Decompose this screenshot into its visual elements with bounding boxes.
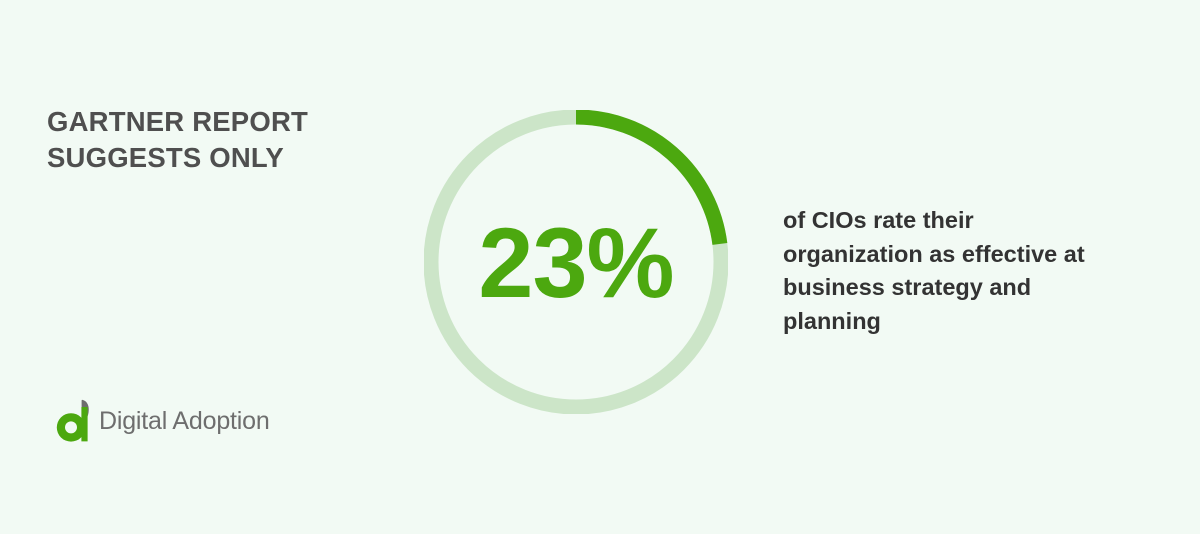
logo-a-mark-icon — [56, 398, 96, 444]
donut-center-value: 23% — [424, 110, 728, 414]
infographic-canvas: Gartner report suggests only 23% of CIOs… — [0, 0, 1200, 534]
brand-logo: Digital Adoption — [56, 398, 270, 444]
logo-a-bowl-counter — [65, 421, 77, 433]
page-title: Gartner report suggests only — [47, 104, 377, 176]
statistic-description: of CIOs rate their organization as effec… — [783, 204, 1118, 338]
donut-chart: 23% — [424, 110, 728, 414]
logo-wordmark: Digital Adoption — [99, 407, 270, 435]
headline-line-2: suggests only — [47, 140, 377, 176]
headline-line-1: Gartner report — [47, 104, 377, 140]
